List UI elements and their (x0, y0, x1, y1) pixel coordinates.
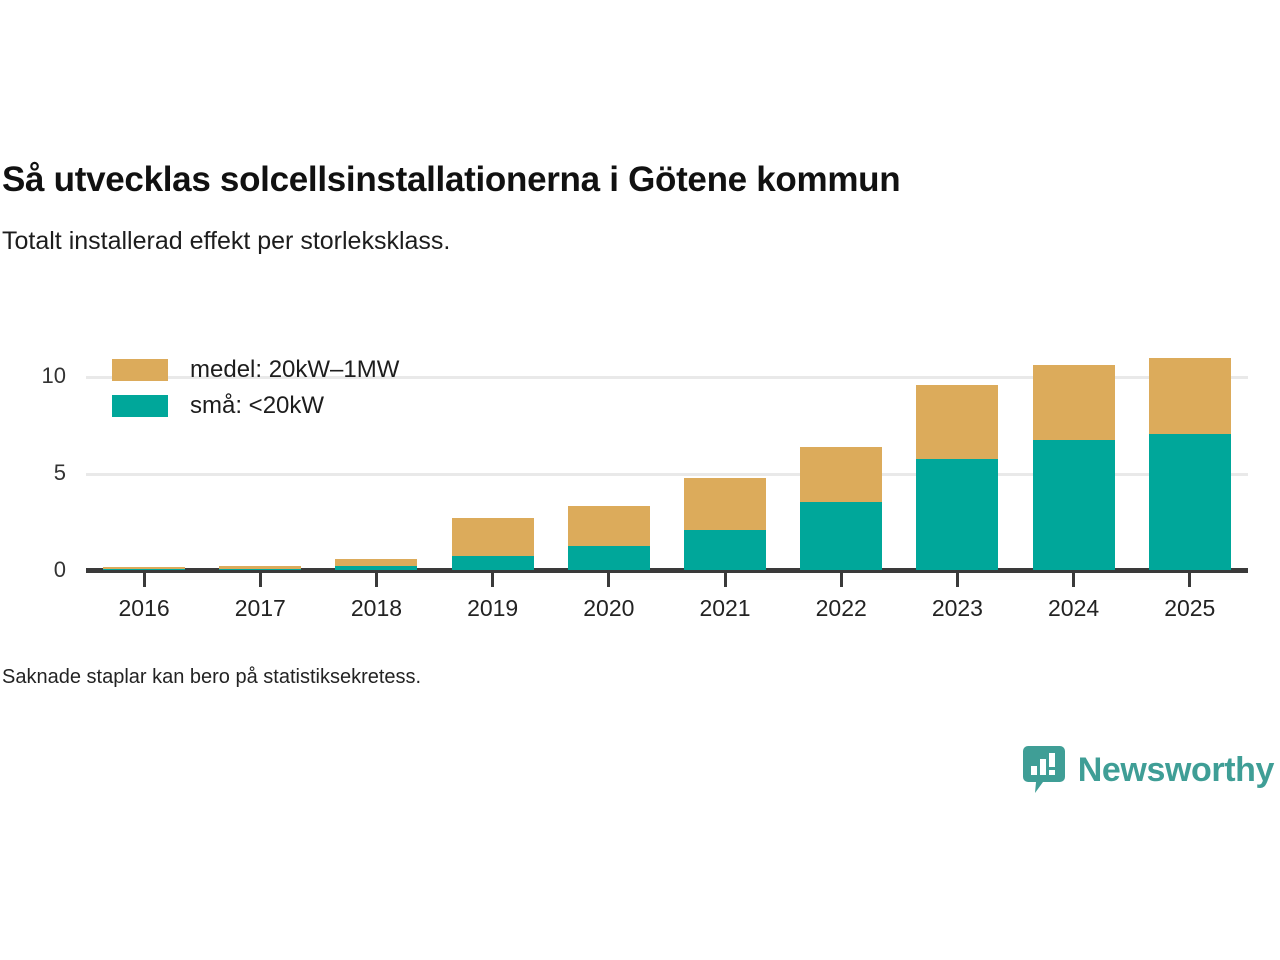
chart-header: Så utvecklas solcellsinstallationerna i … (0, 160, 1280, 256)
x-tick-2018: 2018 (318, 573, 434, 622)
x-tick-2024: 2024 (1016, 573, 1132, 622)
bar-segment-sma[interactable] (800, 502, 882, 570)
chart-subtitle: Totalt installerad effekt per storlekskl… (2, 226, 1280, 256)
x-tick-label: 2021 (667, 595, 783, 622)
legend-swatch-medel (112, 359, 168, 381)
bar-stack[interactable] (219, 566, 301, 570)
tick-mark (840, 573, 843, 587)
bar-segment-sma[interactable] (1149, 434, 1231, 570)
tick-mark (1072, 573, 1075, 587)
newsworthy-bar-chart-bubble-icon (1022, 745, 1066, 795)
bar-stack[interactable] (1149, 358, 1231, 570)
x-tick-2021: 2021 (667, 573, 783, 622)
bar-stack[interactable] (684, 478, 766, 570)
bar-segment-sma[interactable] (568, 546, 650, 570)
bar-segment-sma[interactable] (335, 566, 417, 570)
tick-mark (491, 573, 494, 587)
tick-mark (1188, 573, 1191, 587)
legend-item-medel[interactable]: medel: 20kW–1MW (112, 352, 399, 388)
page-title: Så utvecklas solcellsinstallationerna i … (2, 160, 1280, 200)
bar-segment-medel[interactable] (568, 506, 650, 546)
tick-mark (143, 573, 146, 587)
bar-segment-sma[interactable] (103, 569, 185, 570)
bar-segment-medel[interactable] (800, 447, 882, 502)
bar-group[interactable] (551, 350, 667, 570)
chart-legend: medel: 20kW–1MW små: <20kW (112, 352, 399, 424)
bar-group[interactable] (1016, 350, 1132, 570)
bar-segment-sma[interactable] (452, 556, 534, 570)
x-tick-2025: 2025 (1132, 573, 1248, 622)
x-tick-label: 2025 (1132, 595, 1248, 622)
y-tick-label-0: 0 (0, 557, 66, 583)
bar-segment-medel[interactable] (1033, 365, 1115, 440)
y-tick-label-5: 5 (0, 460, 66, 486)
legend-label-sma: små: <20kW (190, 392, 324, 420)
x-tick-2022: 2022 (783, 573, 899, 622)
bar-group[interactable] (783, 350, 899, 570)
x-tick-2020: 2020 (551, 573, 667, 622)
x-tick-label: 2017 (202, 595, 318, 622)
x-tick-label: 2019 (435, 595, 551, 622)
tick-mark (259, 573, 262, 587)
bar-group[interactable] (1132, 350, 1248, 570)
x-tick-2016: 2016 (86, 573, 202, 622)
bar-stack[interactable] (452, 518, 534, 570)
chart-footnote: Saknade staplar kan bero på statistiksek… (2, 666, 421, 689)
bar-segment-sma[interactable] (1033, 440, 1115, 570)
bar-segment-sma[interactable] (219, 569, 301, 570)
x-tick-label: 2018 (318, 595, 434, 622)
bar-segment-medel[interactable] (916, 385, 998, 460)
x-axis-ticks: 2016201720182019202020212022202320242025 (86, 573, 1248, 622)
bar-segment-sma[interactable] (916, 459, 998, 570)
x-tick-label: 2020 (551, 595, 667, 622)
bar-stack[interactable] (1033, 365, 1115, 570)
bar-group[interactable] (435, 350, 551, 570)
y-tick-label-10: 10 (0, 363, 66, 389)
legend-swatch-sma (112, 395, 168, 417)
chart-page: Så utvecklas solcellsinstallationerna i … (0, 0, 1280, 960)
bar-stack[interactable] (568, 506, 650, 570)
bar-stack[interactable] (335, 559, 417, 570)
x-tick-label: 2024 (1016, 595, 1132, 622)
bar-stack[interactable] (800, 447, 882, 570)
tick-mark (956, 573, 959, 587)
legend-item-sma[interactable]: små: <20kW (112, 388, 399, 424)
bar-stack[interactable] (916, 385, 998, 570)
bar-group[interactable] (899, 350, 1015, 570)
bar-segment-medel[interactable] (1149, 358, 1231, 435)
x-tick-label: 2016 (86, 595, 202, 622)
tick-mark (607, 573, 610, 587)
x-tick-label: 2022 (783, 595, 899, 622)
newsworthy-logo[interactable]: Newsworthy (1022, 745, 1274, 795)
bar-segment-sma[interactable] (684, 530, 766, 570)
bar-stack[interactable] (103, 567, 185, 570)
tick-mark (375, 573, 378, 587)
x-tick-2019: 2019 (435, 573, 551, 622)
legend-label-medel: medel: 20kW–1MW (190, 356, 399, 384)
x-tick-label: 2023 (899, 595, 1015, 622)
bar-segment-medel[interactable] (452, 518, 534, 556)
newsworthy-wordmark: Newsworthy (1078, 751, 1274, 790)
x-tick-2017: 2017 (202, 573, 318, 622)
tick-mark (724, 573, 727, 587)
bar-group[interactable] (667, 350, 783, 570)
x-tick-2023: 2023 (899, 573, 1015, 622)
bar-segment-medel[interactable] (684, 478, 766, 530)
